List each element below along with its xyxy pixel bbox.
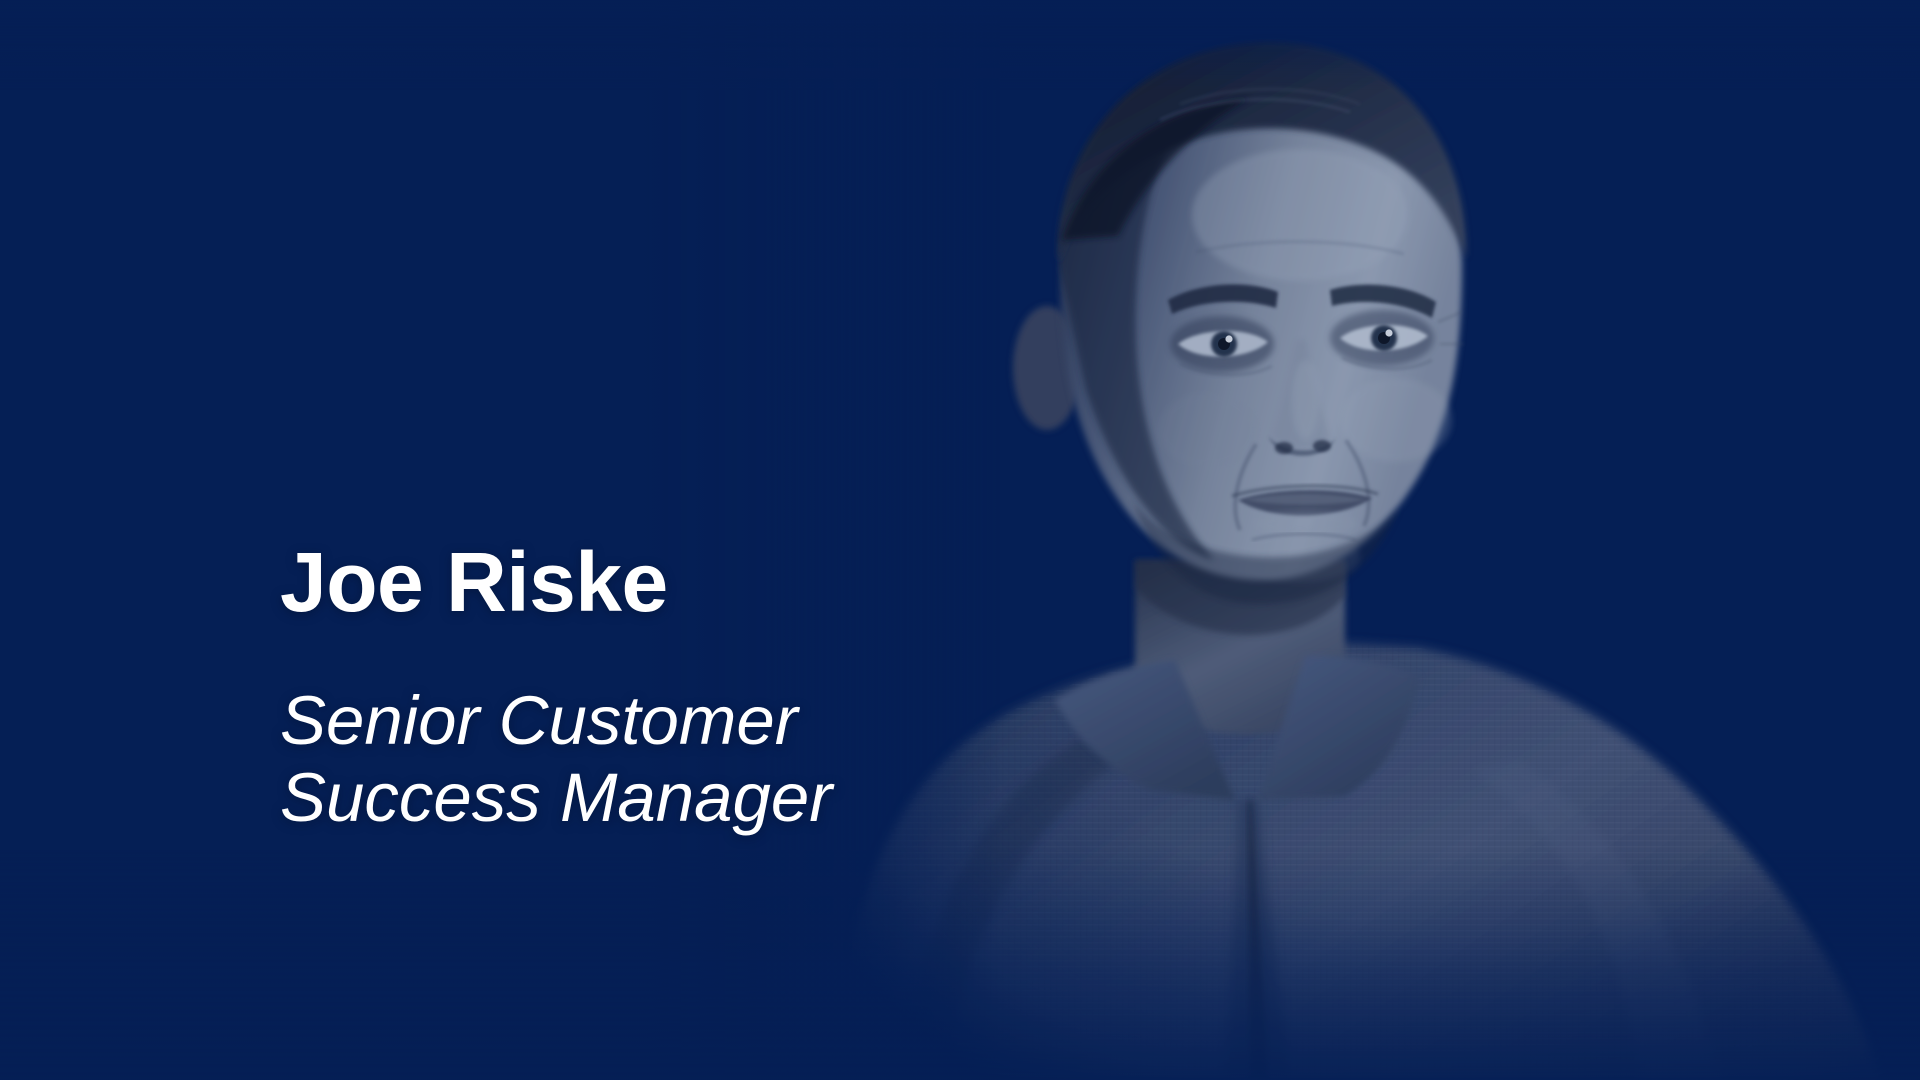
person-title-line-1: Senior Customer [280,682,1100,759]
person-title-line-2: Success Manager [280,759,1100,836]
speaker-card: Joe Riske Senior Customer Success Manage… [0,0,1920,1080]
person-name: Joe Riske [280,540,1100,624]
speaker-info: Joe Riske Senior Customer Success Manage… [280,540,1100,837]
person-title: Senior Customer Success Manager [280,682,1100,837]
